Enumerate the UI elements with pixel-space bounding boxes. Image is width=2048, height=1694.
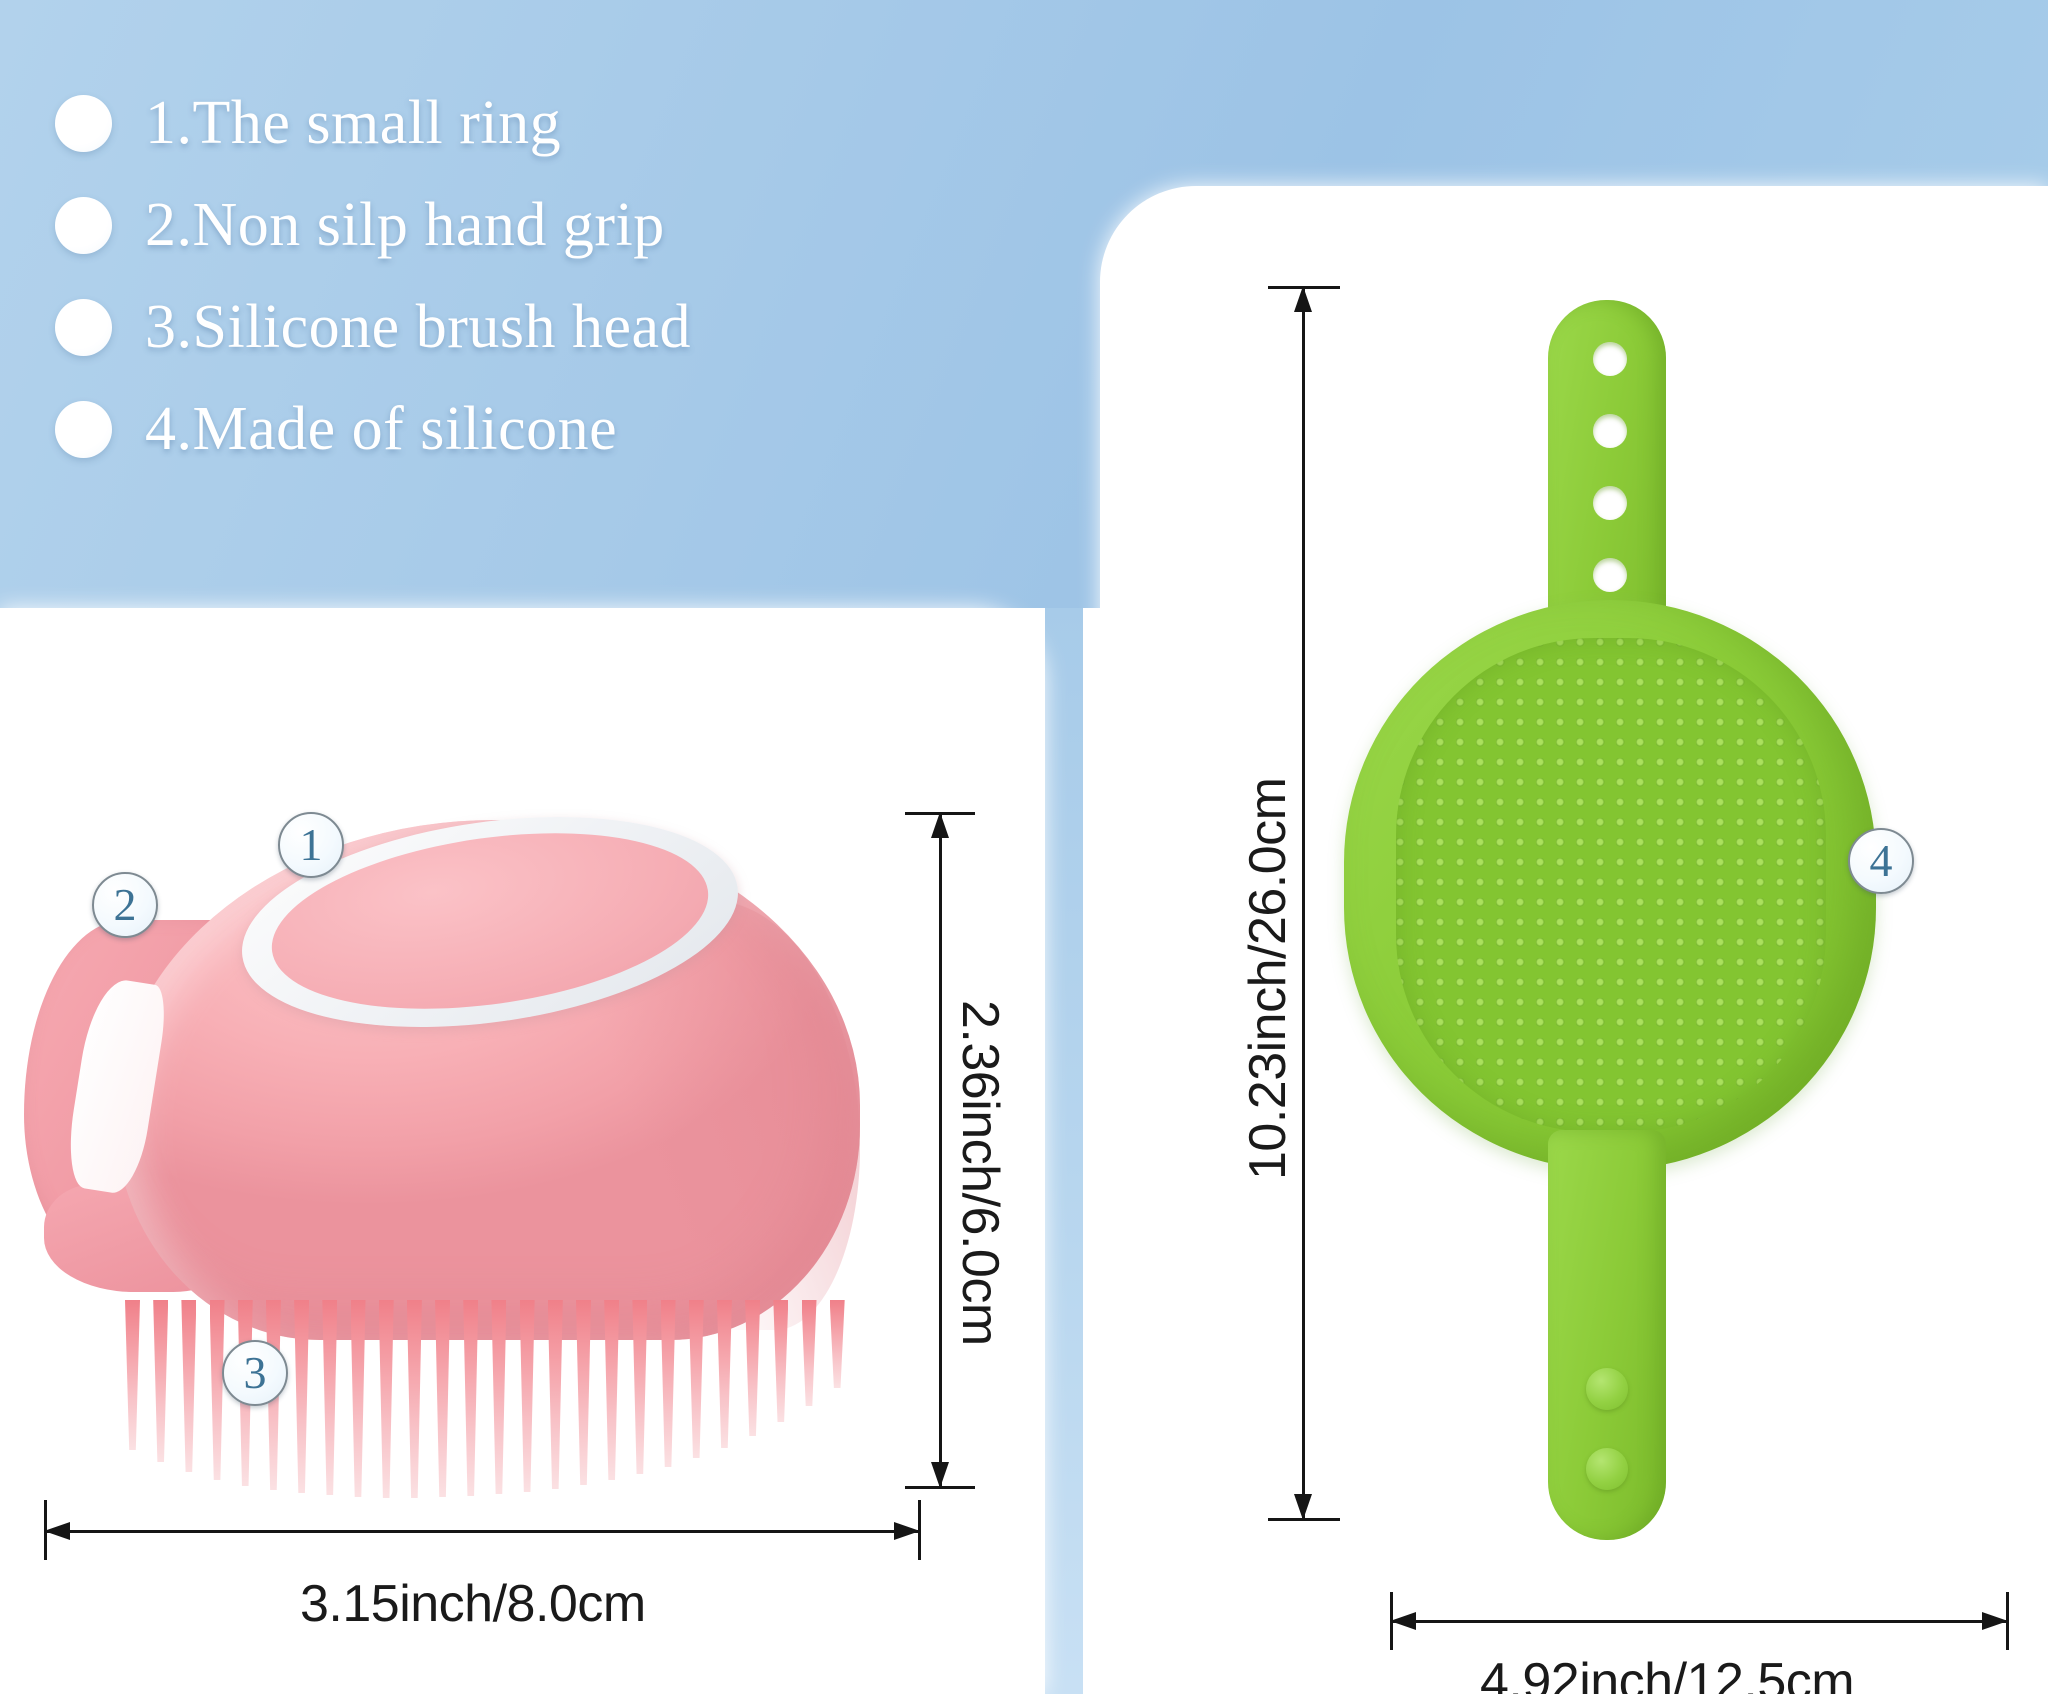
width-dim-arrow-right: [894, 1522, 920, 1540]
callout-badge-2: 2: [92, 872, 158, 938]
bristle: [689, 1300, 704, 1458]
green-height-dim-line: [1302, 286, 1305, 1520]
width-dim-right-cap: [918, 1500, 921, 1560]
bristle: [125, 1300, 140, 1450]
width-dim-line: [44, 1530, 920, 1533]
width-dim-arrow-left: [44, 1522, 70, 1540]
product-infographic: 1.The small ring 2.Non silp hand grip 3.…: [0, 0, 2048, 1694]
feature-list: 1.The small ring 2.Non silp hand grip 3.…: [55, 72, 1055, 480]
green-width-dim-arrow-right: [1982, 1612, 2008, 1630]
bristle: [745, 1300, 760, 1436]
bristle: [576, 1300, 591, 1485]
strap-hole-icon: [1593, 342, 1627, 376]
callout-badge-3: 3: [222, 1340, 288, 1406]
strap-hole-icon: [1593, 558, 1627, 592]
green-height-dim-bottom-cap: [1268, 1518, 1340, 1521]
panel-divider-gap: [1083, 608, 1100, 1694]
bristle: [520, 1300, 535, 1492]
bristle: [153, 1300, 168, 1462]
bristle: [379, 1300, 394, 1498]
pink-brush-bristles: [125, 1300, 845, 1520]
feature-label: 3.Silicone brush head: [145, 296, 691, 358]
bristle: [210, 1300, 225, 1480]
height-dim-arrow-top: [931, 812, 949, 838]
bullet-dot-icon: [55, 401, 112, 458]
bristle: [294, 1300, 309, 1493]
panel-divider: [1045, 608, 1083, 1694]
feature-item-3: 3.Silicone brush head: [55, 276, 1055, 378]
bristle: [661, 1300, 676, 1467]
bristle: [604, 1300, 619, 1480]
strap-hole-icon: [1593, 486, 1627, 520]
height-dim-bottom-cap: [905, 1486, 975, 1489]
callout-badge-1: 1: [278, 812, 344, 878]
green-height-dim-arrow-top: [1294, 286, 1312, 312]
bullet-dot-icon: [55, 299, 112, 356]
callout-badge-4: 4: [1848, 828, 1914, 894]
bristle: [407, 1300, 422, 1498]
green-brush-handle: [1548, 1130, 1666, 1540]
height-dimension-label: 2.36inch/6.0cm: [950, 1000, 1010, 1346]
green-brush-bristle-pad: [1396, 638, 1826, 1132]
bristle: [435, 1300, 450, 1497]
callout-number: 2: [114, 882, 137, 928]
green-width-dim-line: [1390, 1620, 2008, 1623]
bristle: [830, 1300, 845, 1388]
bristle: [463, 1300, 478, 1496]
strap-hole-icon: [1593, 414, 1627, 448]
green-width-dim-arrow-left: [1390, 1612, 1416, 1630]
bristle: [717, 1300, 732, 1448]
bristle: [351, 1300, 366, 1497]
bristle: [548, 1300, 563, 1489]
feature-item-4: 4.Made of silicone: [55, 378, 1055, 480]
height-dim-arrow-bottom: [931, 1462, 949, 1488]
feature-item-2: 2.Non silp hand grip: [55, 174, 1055, 276]
green-height-dim-arrow-bottom: [1294, 1494, 1312, 1520]
callout-number: 1: [300, 822, 323, 868]
feature-item-1: 1.The small ring: [55, 72, 1055, 174]
bristle: [322, 1300, 337, 1495]
green-width-dim-right-cap: [2006, 1592, 2009, 1650]
green-height-dimension-label: 10.23inch/26.0cm: [1238, 778, 1298, 1181]
feature-label: 4.Made of silicone: [145, 398, 617, 460]
feature-label: 2.Non silp hand grip: [145, 194, 665, 256]
bristle: [773, 1300, 788, 1422]
callout-number: 4: [1870, 838, 1893, 884]
bristle: [632, 1300, 647, 1474]
snap-button-icon: [1586, 1448, 1628, 1490]
bristle: [802, 1300, 817, 1406]
bristle: [181, 1300, 196, 1472]
snap-button-icon: [1586, 1368, 1628, 1410]
green-brush-illustration: [1330, 300, 1890, 1590]
width-dimension-label: 3.15inch/8.0cm: [300, 1574, 646, 1634]
green-width-dimension-label: 4.92inch/12.5cm: [1480, 1652, 1854, 1694]
feature-label: 1.The small ring: [145, 92, 561, 154]
bullet-dot-icon: [55, 95, 112, 152]
bullet-dot-icon: [55, 197, 112, 254]
bristle: [491, 1300, 506, 1494]
height-dim-line: [939, 812, 942, 1488]
callout-number: 3: [244, 1350, 267, 1396]
